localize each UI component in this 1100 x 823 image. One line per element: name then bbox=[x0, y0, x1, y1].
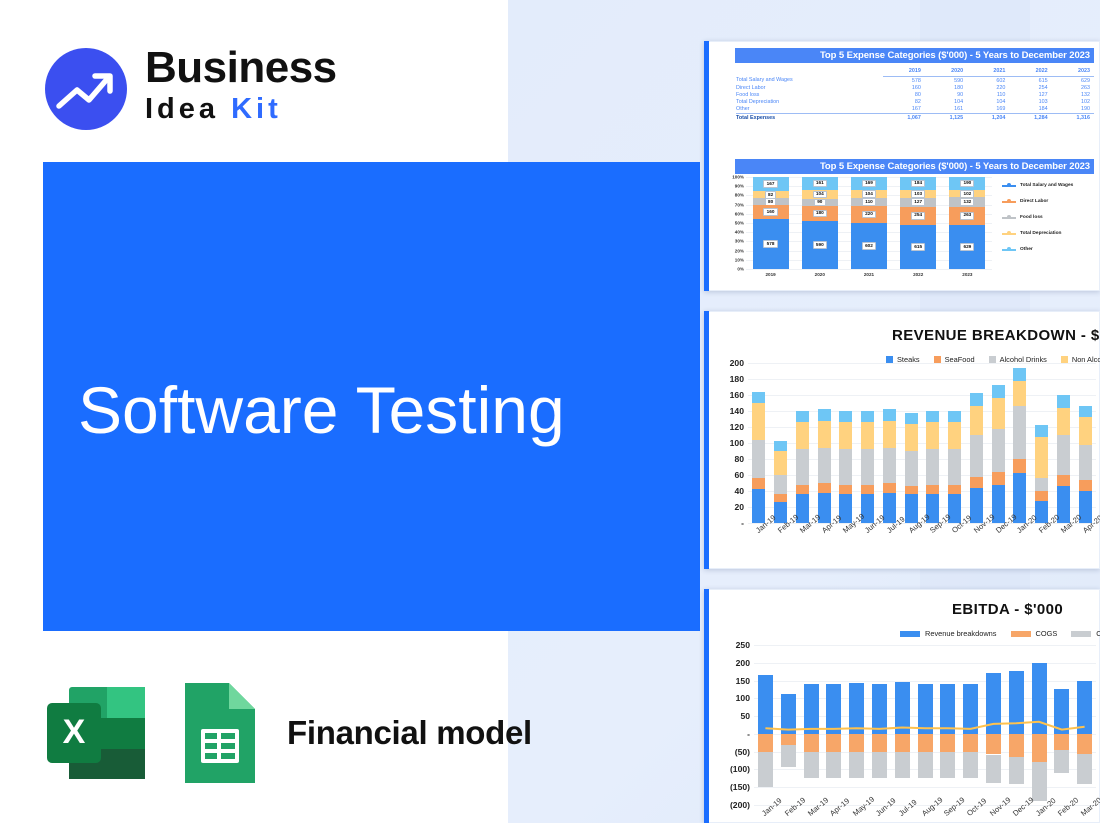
bar-segment bbox=[774, 441, 787, 451]
axis-tick: 160 bbox=[730, 390, 744, 400]
axis-tick: 90% bbox=[735, 184, 744, 189]
bar-segment bbox=[752, 403, 765, 440]
axis-tick: 50% bbox=[735, 221, 744, 226]
bar-segment bbox=[926, 449, 939, 484]
axis-tick: (100) bbox=[730, 764, 750, 774]
bar-segment bbox=[1057, 435, 1070, 475]
bar-segment: 615 bbox=[900, 225, 936, 269]
legend-swatch bbox=[1002, 233, 1016, 235]
bar-column: 16110490180590 bbox=[802, 177, 838, 269]
bar-segment bbox=[861, 422, 874, 449]
bar-segment: 180 bbox=[802, 206, 838, 221]
table-row: Food loss8090110127132 bbox=[736, 91, 1094, 98]
bar-segment bbox=[796, 422, 809, 449]
table-header: 2021 bbox=[967, 68, 1009, 77]
axis-tick: 250 bbox=[736, 640, 750, 650]
bar-value-label: 103 bbox=[911, 190, 925, 197]
bar-column: 1678280160578 bbox=[753, 177, 789, 269]
footer-row: X Financial model bbox=[43, 678, 532, 788]
bar-segment: 104 bbox=[802, 190, 838, 199]
bar-segment bbox=[1079, 417, 1092, 444]
bar-value-label: 263 bbox=[960, 212, 974, 219]
google-sheets-icon bbox=[179, 679, 261, 787]
axis-label: 2020 bbox=[802, 272, 838, 277]
bar-segment: 169 bbox=[851, 177, 887, 190]
table-header: 2020 bbox=[925, 68, 967, 77]
bar-segment bbox=[905, 486, 918, 494]
axis-label: 2021 bbox=[851, 272, 887, 277]
axis-tick: 200 bbox=[730, 358, 744, 368]
bar-segment bbox=[883, 421, 896, 448]
axis-tick: 100% bbox=[732, 175, 744, 180]
bar-segment bbox=[1035, 437, 1048, 479]
axis-tick: 0% bbox=[737, 267, 744, 272]
bar-segment: 184 bbox=[900, 177, 936, 190]
bar-value-label: 220 bbox=[862, 211, 876, 218]
bar-value-label: 169 bbox=[862, 180, 876, 187]
legend-item: Food loss bbox=[1002, 215, 1100, 220]
legend-label: Total Salary and Wages bbox=[1020, 183, 1073, 188]
legend-label: Food loss bbox=[1020, 215, 1043, 220]
bar-column bbox=[883, 363, 896, 523]
bar-column bbox=[1035, 363, 1048, 523]
bar-segment bbox=[948, 411, 961, 422]
expense-table-title: Top 5 Expense Categories ($'000) - 5 Yea… bbox=[735, 48, 1094, 63]
bar-column bbox=[926, 363, 939, 523]
bar-segment: 102 bbox=[949, 190, 985, 197]
bar-segment bbox=[818, 483, 831, 493]
axis-tick: 150 bbox=[736, 676, 750, 686]
bar-segment bbox=[839, 485, 852, 495]
axis-tick: 20 bbox=[734, 502, 744, 512]
legend-label: Revenue breakdowns bbox=[925, 629, 997, 638]
ebitda-chart-plot bbox=[754, 645, 1096, 805]
bar-segment bbox=[1057, 475, 1070, 486]
bar-column: 184103127254615 bbox=[900, 177, 936, 269]
bar-segment: 132 bbox=[949, 197, 985, 206]
axis-tick: 200 bbox=[736, 658, 750, 668]
bar-column bbox=[796, 363, 809, 523]
bar-value-label: 184 bbox=[911, 180, 925, 187]
brand-logo: Business Idea Kit bbox=[45, 44, 385, 136]
bar-value-label: 127 bbox=[911, 198, 925, 205]
footer-label: Financial model bbox=[287, 714, 532, 752]
axis-tick: 60 bbox=[734, 470, 744, 480]
bar-segment bbox=[905, 494, 918, 523]
bar-segment bbox=[905, 424, 918, 451]
legend-label: Other bbox=[1020, 247, 1033, 252]
bar-segment bbox=[970, 406, 983, 435]
revenue-chart-yaxis: 20018016014012010080604020- bbox=[710, 363, 744, 523]
legend-item: Total Depreciation bbox=[1002, 231, 1100, 236]
bar-segment: 104 bbox=[851, 190, 887, 198]
bar-segment bbox=[948, 449, 961, 484]
bar-segment bbox=[839, 411, 852, 422]
bar-segment: 90 bbox=[802, 199, 838, 206]
bar-segment: 190 bbox=[949, 177, 985, 190]
bar-segment bbox=[752, 489, 765, 523]
bar-column bbox=[1057, 363, 1070, 523]
legend-swatch bbox=[1011, 631, 1031, 637]
revenue-breakdown-card: REVENUE BREAKDOWN - $'000 SteaksSeaFoodA… bbox=[704, 311, 1100, 569]
legend-swatch bbox=[900, 631, 920, 637]
axis-tick: 180 bbox=[730, 374, 744, 384]
bar-segment bbox=[796, 449, 809, 484]
bar-column bbox=[839, 363, 852, 523]
bar-segment bbox=[1079, 480, 1092, 491]
bar-segment: 254 bbox=[900, 207, 936, 225]
bar-segment bbox=[883, 448, 896, 483]
bar-value-label: 90 bbox=[814, 199, 826, 206]
expense-chart-legend: Total Salary and WagesDirect LaborFood l… bbox=[1002, 183, 1100, 263]
axis-tick: 60% bbox=[735, 211, 744, 216]
expense-chart-plot: 1678280160578201916110490180590202016910… bbox=[746, 177, 992, 269]
bar-segment: 578 bbox=[753, 219, 789, 269]
axis-tick: (50) bbox=[735, 747, 750, 757]
legend-label: Total Depreciation bbox=[1020, 231, 1062, 236]
legend-swatch bbox=[934, 356, 941, 363]
bar-value-label: 602 bbox=[862, 242, 876, 249]
ebitda-card: EBITDA - $'000 Revenue breakdownsCOGSOPE… bbox=[704, 589, 1100, 823]
table-row: Other167161169184190 bbox=[736, 106, 1094, 114]
bar-segment bbox=[926, 422, 939, 449]
bar-segment: 110 bbox=[851, 198, 887, 206]
bar-segment: 160 bbox=[753, 205, 789, 219]
legend-item: COGS bbox=[1011, 629, 1058, 638]
bar-segment bbox=[1013, 368, 1026, 381]
bar-column bbox=[992, 363, 1005, 523]
bar-value-label: 629 bbox=[960, 243, 974, 250]
bar-segment bbox=[970, 477, 983, 488]
legend-item: Total Salary and Wages bbox=[1002, 183, 1100, 188]
axis-tick: - bbox=[741, 518, 744, 528]
bar-segment bbox=[1057, 408, 1070, 435]
legend-swatch bbox=[1002, 185, 1016, 187]
bar-segment bbox=[752, 392, 765, 403]
bar-segment bbox=[818, 421, 831, 448]
axis-tick: 80 bbox=[734, 454, 744, 464]
bar-segment: 590 bbox=[802, 221, 838, 269]
bar-segment bbox=[861, 411, 874, 422]
bar-segment bbox=[926, 485, 939, 495]
bar-column bbox=[861, 363, 874, 523]
axis-tick: - bbox=[747, 729, 750, 739]
brand-kit-text: Kit bbox=[231, 93, 282, 125]
bar-segment bbox=[905, 413, 918, 424]
axis-tick: (200) bbox=[730, 800, 750, 810]
axis-tick: 80% bbox=[735, 193, 744, 198]
expense-stacked-chart: 100%90%80%70%60%50%40%30%20%10%0% 167828… bbox=[714, 177, 1100, 287]
bar-segment: 80 bbox=[753, 198, 789, 205]
bar-value-label: 161 bbox=[813, 180, 827, 187]
bar-segment bbox=[818, 448, 831, 483]
bar-segment: 103 bbox=[900, 190, 936, 197]
legend-item: Direct Labor bbox=[1002, 199, 1100, 204]
bar-segment bbox=[1035, 425, 1048, 436]
axis-tick: 10% bbox=[735, 257, 744, 262]
bar-segment bbox=[1013, 459, 1026, 473]
expense-chart-title: Top 5 Expense Categories ($'000) - 5 Yea… bbox=[735, 159, 1094, 174]
bar-segment bbox=[992, 385, 1005, 398]
table-header: 2023 bbox=[1052, 68, 1094, 77]
bar-column bbox=[1013, 363, 1026, 523]
axis-tick: 100 bbox=[736, 693, 750, 703]
bar-segment bbox=[970, 435, 983, 477]
ebitda-chart-legend: Revenue breakdownsCOGSOPEX bbox=[900, 629, 1100, 638]
bar-segment: 263 bbox=[949, 207, 985, 225]
bar-segment bbox=[1035, 491, 1048, 501]
legend-swatch bbox=[1002, 249, 1016, 251]
bar-segment bbox=[796, 411, 809, 422]
bar-segment bbox=[1057, 395, 1070, 408]
bar-column bbox=[970, 363, 983, 523]
bar-column bbox=[905, 363, 918, 523]
bar-column bbox=[774, 363, 787, 523]
ebitda-chart-yaxis: 25020015010050-(50)(100)(150)(200) bbox=[710, 645, 750, 805]
card-accent-edge bbox=[704, 311, 709, 569]
expense-table: 20192020202120222023Total Salary and Wag… bbox=[736, 68, 1094, 122]
axis-label: 2022 bbox=[900, 272, 936, 277]
legend-swatch bbox=[989, 356, 996, 363]
legend-swatch bbox=[1002, 217, 1016, 219]
bar-column: 169104110220602 bbox=[851, 177, 887, 269]
axis-tick: 20% bbox=[735, 248, 744, 253]
expense-categories-card: Top 5 Expense Categories ($'000) - 5 Yea… bbox=[704, 41, 1100, 291]
legend-label: Direct Labor bbox=[1020, 199, 1048, 204]
axis-tick: 70% bbox=[735, 202, 744, 207]
table-row: Total Salary and Wages578590602615629 bbox=[736, 77, 1094, 85]
bar-segment bbox=[883, 483, 896, 493]
axis-label: 2023 bbox=[949, 272, 985, 277]
brand-name-line1: Business bbox=[145, 44, 390, 92]
revenue-chart-title: REVENUE BREAKDOWN - $'000 bbox=[892, 327, 1100, 344]
bar-value-label: 104 bbox=[813, 191, 827, 198]
bar-column bbox=[818, 363, 831, 523]
card-accent-edge bbox=[704, 41, 709, 291]
legend-swatch bbox=[1071, 631, 1091, 637]
expense-chart-yaxis: 100%90%80%70%60%50%40%30%20%10%0% bbox=[720, 177, 744, 269]
page-title: Software Testing bbox=[78, 372, 565, 448]
axis-tick: 120 bbox=[730, 422, 744, 432]
bar-segment bbox=[883, 409, 896, 420]
legend-item: Revenue breakdowns bbox=[900, 629, 997, 638]
bar-column bbox=[752, 363, 765, 523]
bar-segment bbox=[796, 485, 809, 495]
bar-segment bbox=[1079, 445, 1092, 480]
bar-segment bbox=[992, 398, 1005, 428]
bar-value-label: 132 bbox=[960, 198, 974, 205]
bar-value-label: 190 bbox=[960, 180, 974, 187]
bar-segment bbox=[1013, 406, 1026, 459]
brand-name-line2: Idea Kit bbox=[145, 92, 390, 126]
legend-label: OPEX bbox=[1096, 629, 1100, 638]
svg-text:X: X bbox=[63, 713, 86, 751]
bar-segment bbox=[1013, 381, 1026, 407]
bar-value-label: 615 bbox=[911, 243, 925, 250]
bar-segment bbox=[926, 411, 939, 422]
bar-segment bbox=[948, 485, 961, 495]
bar-value-label: 254 bbox=[911, 212, 925, 219]
legend-swatch bbox=[1061, 356, 1068, 363]
ebitda-chart-title: EBITDA - $'000 bbox=[952, 601, 1063, 618]
bar-column bbox=[1079, 363, 1092, 523]
axis-tick: 40% bbox=[735, 230, 744, 235]
bar-segment bbox=[839, 422, 852, 449]
bar-segment bbox=[774, 451, 787, 475]
bar-segment bbox=[861, 485, 874, 495]
growth-arrow-icon bbox=[45, 48, 127, 130]
bar-value-label: 104 bbox=[862, 190, 876, 197]
ebitda-line bbox=[754, 645, 1096, 805]
table-header bbox=[736, 68, 883, 77]
legend-swatch bbox=[886, 356, 893, 363]
legend-item: Other bbox=[1002, 247, 1100, 252]
bar-value-label: 180 bbox=[813, 210, 827, 217]
bar-segment bbox=[774, 475, 787, 494]
bar-column: 190102132263629 bbox=[949, 177, 985, 269]
bar-segment bbox=[839, 449, 852, 484]
microsoft-excel-icon: X bbox=[43, 679, 155, 787]
bar-value-label: 167 bbox=[763, 180, 777, 187]
bar-segment: 629 bbox=[949, 225, 985, 269]
bar-value-label: 578 bbox=[763, 240, 777, 247]
axis-tick: (150) bbox=[730, 782, 750, 792]
revenue-chart-plot bbox=[748, 363, 1096, 523]
bar-segment: 161 bbox=[802, 177, 838, 190]
bar-segment bbox=[905, 451, 918, 486]
bar-segment: 602 bbox=[851, 223, 887, 269]
axis-tick: 140 bbox=[730, 406, 744, 416]
legend-item: OPEX bbox=[1071, 629, 1100, 638]
bar-segment: 167 bbox=[753, 177, 789, 191]
axis-tick: 100 bbox=[730, 438, 744, 448]
bar-segment bbox=[861, 449, 874, 484]
legend-label: COGS bbox=[1036, 629, 1058, 638]
bar-segment bbox=[992, 472, 1005, 485]
table-header: 2019 bbox=[883, 68, 925, 77]
bar-segment bbox=[948, 422, 961, 449]
axis-tick: 40 bbox=[734, 486, 744, 496]
bar-segment bbox=[774, 494, 787, 502]
bar-value-label: 110 bbox=[862, 198, 876, 205]
table-row: Total Depreciation82104104103102 bbox=[736, 99, 1094, 106]
bar-segment bbox=[752, 478, 765, 489]
bar-segment bbox=[752, 440, 765, 478]
axis-tick: 30% bbox=[735, 239, 744, 244]
table-header: 2022 bbox=[1009, 68, 1051, 77]
bar-value-label: 590 bbox=[813, 241, 827, 248]
bar-segment: 127 bbox=[900, 198, 936, 207]
bar-value-label: 160 bbox=[763, 208, 777, 215]
bar-segment bbox=[1035, 478, 1048, 491]
card-accent-edge bbox=[704, 589, 709, 823]
bar-segment bbox=[1079, 406, 1092, 417]
brand-idea-text: Idea bbox=[145, 93, 231, 125]
bar-segment bbox=[970, 393, 983, 406]
legend-swatch bbox=[1002, 201, 1016, 203]
table-total-row: Total Expenses1,0671,1251,2041,2841,316 bbox=[736, 113, 1094, 121]
axis-tick: 50 bbox=[740, 711, 750, 721]
bar-segment: 220 bbox=[851, 206, 887, 223]
bar-segment bbox=[992, 429, 1005, 472]
bar-column bbox=[948, 363, 961, 523]
axis-label: 2019 bbox=[753, 272, 789, 277]
table-row: Direct Labor160180220254263 bbox=[736, 84, 1094, 91]
bar-segment bbox=[818, 409, 831, 420]
